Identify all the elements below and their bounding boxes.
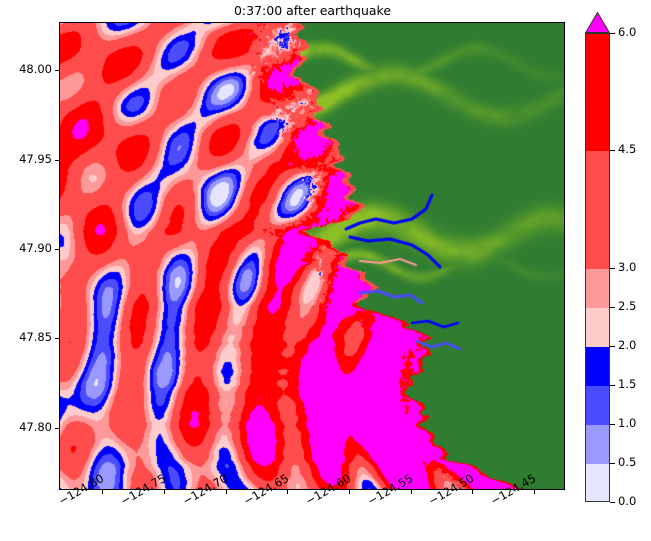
- x-tick: [411, 490, 412, 494]
- y-tick-label: 48.00: [4, 62, 52, 76]
- colorbar-gradient: [585, 33, 610, 502]
- y-tick: [55, 338, 59, 339]
- x-tick: [164, 490, 165, 494]
- y-tick: [55, 249, 59, 250]
- x-tick: [226, 490, 227, 494]
- colorbar-segment: [586, 308, 609, 347]
- colorbar-tick: [610, 307, 615, 308]
- map-axes[interactable]: [59, 22, 565, 490]
- plot-title: 0:37:00 after earthquake: [59, 3, 566, 19]
- colorbar-tick-label: 0.5: [618, 455, 636, 469]
- colorbar-tick-label: 1.5: [618, 377, 636, 391]
- y-tick-label: 47.85: [4, 330, 52, 344]
- colorbar-segment: [586, 269, 609, 308]
- colorbar-over-arrow: [585, 12, 610, 33]
- colorbar-tick-label: 0.0: [618, 494, 636, 508]
- colorbar-tick-label: 2.0: [618, 338, 636, 352]
- colorbar-segment: [586, 425, 609, 464]
- y-tick: [55, 70, 59, 71]
- colorbar-segment: [586, 464, 609, 502]
- colorbar-tick-label: 4.5: [618, 142, 636, 156]
- tsunami-inundation-heatmap: [60, 23, 564, 489]
- y-tick-label: 47.90: [4, 241, 52, 255]
- colorbar-segment: [586, 34, 609, 151]
- x-tick: [349, 490, 350, 494]
- colorbar-tick-label: 1.0: [618, 416, 636, 430]
- colorbar[interactable]: [585, 33, 610, 502]
- colorbar-tick: [610, 33, 615, 34]
- colorbar-tick: [610, 502, 615, 503]
- y-tick: [55, 160, 59, 161]
- y-tick-label: 47.95: [4, 152, 52, 166]
- x-tick: [102, 490, 103, 494]
- colorbar-segment: [586, 151, 609, 268]
- colorbar-tick: [610, 424, 615, 425]
- x-tick: [534, 490, 535, 494]
- colorbar-tick: [610, 346, 615, 347]
- colorbar-tick-label: 6.0: [618, 25, 636, 39]
- colorbar-tick: [610, 268, 615, 269]
- x-tick: [472, 490, 473, 494]
- figure-canvas: 0:37:00 after earthquake −124.80−124.75−…: [0, 0, 651, 541]
- colorbar-tick: [610, 385, 615, 386]
- colorbar-tick-label: 3.0: [618, 260, 636, 274]
- x-tick: [287, 490, 288, 494]
- colorbar-tick: [610, 463, 615, 464]
- y-tick-label: 47.80: [4, 420, 52, 434]
- y-tick: [55, 428, 59, 429]
- colorbar-tick-label: 2.5: [618, 299, 636, 313]
- colorbar-segment: [586, 386, 609, 425]
- colorbar-segment: [586, 347, 609, 386]
- colorbar-tick: [610, 150, 615, 151]
